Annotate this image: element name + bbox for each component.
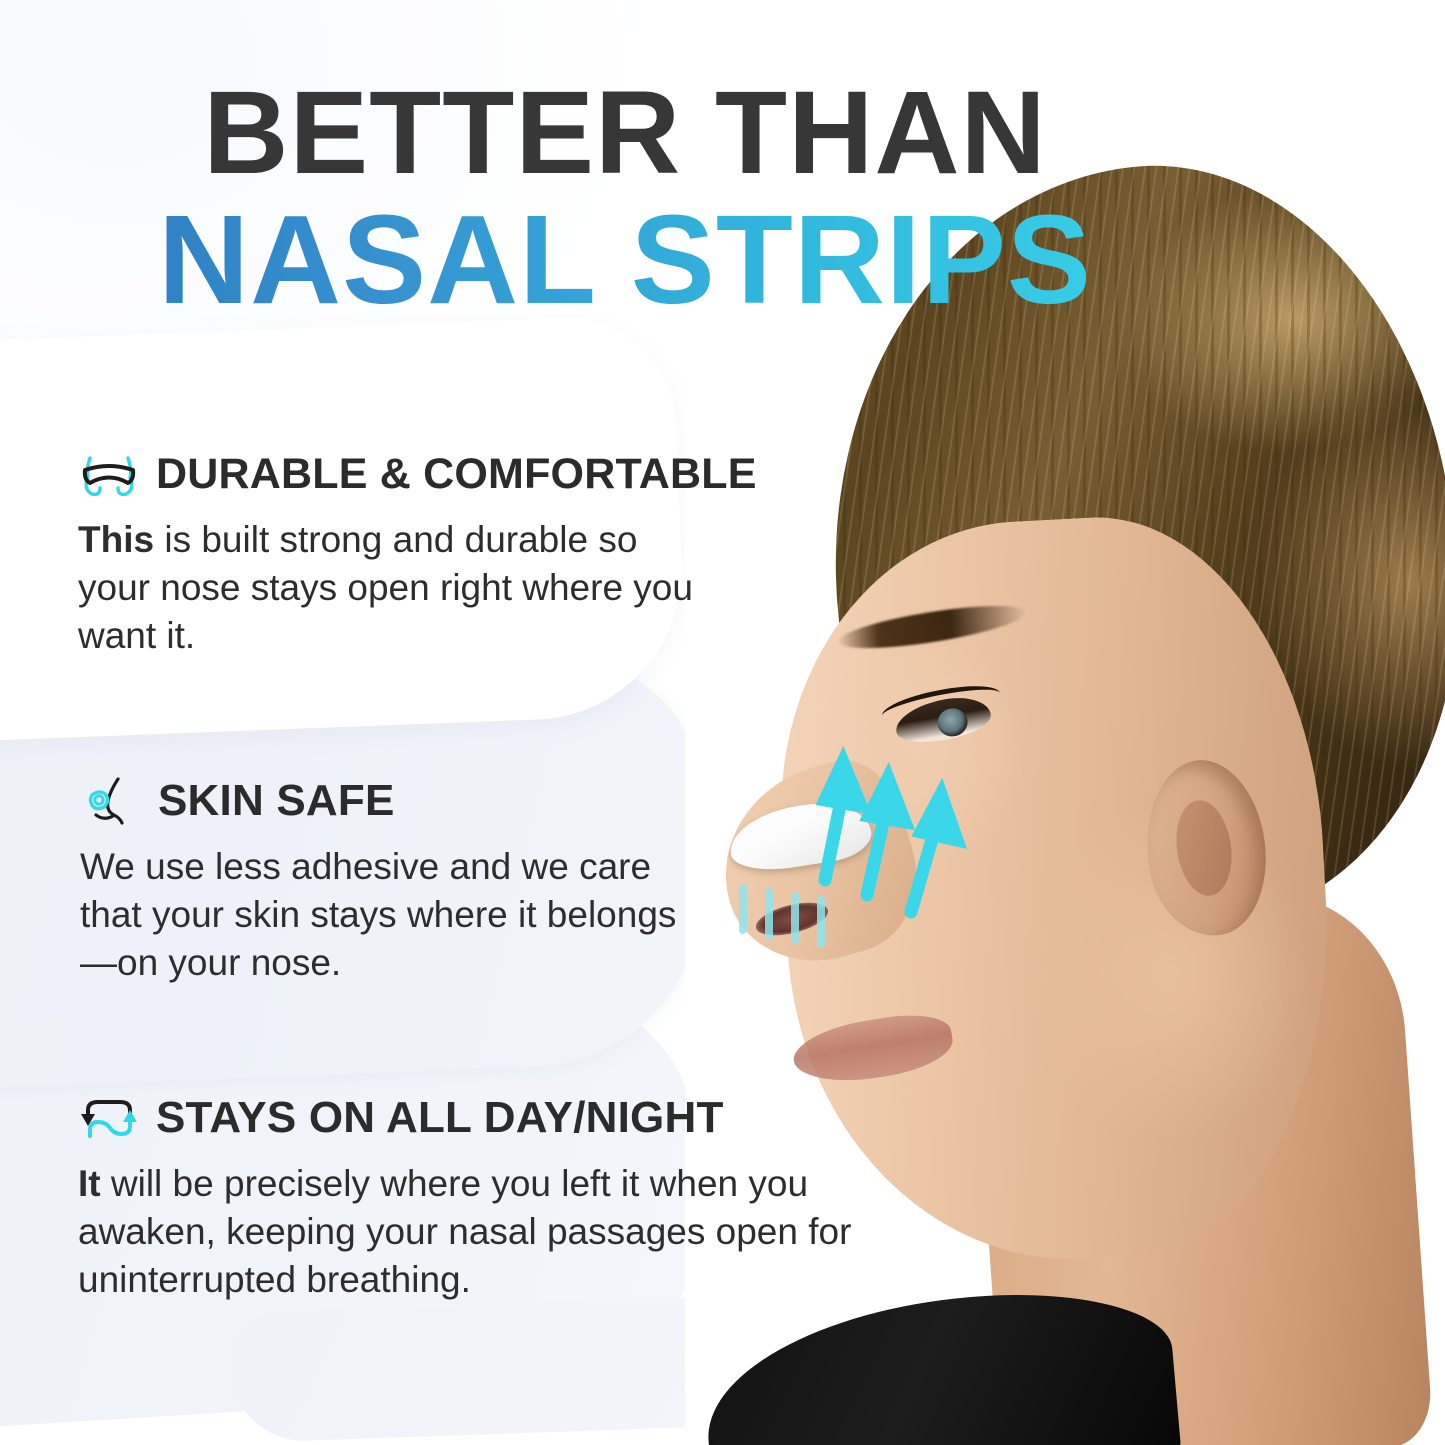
headline-line-1: BETTER THAN (0, 78, 1250, 189)
nose-profile-patch-icon (80, 775, 142, 827)
feature-header: SKIN SAFE (80, 775, 680, 827)
feature-skin-safe: SKIN SAFE We use less adhesive and we ca… (80, 775, 680, 987)
feature-header: DURABLE & COMFORTABLE (78, 448, 757, 500)
page-title: BETTER THAN NASAL STRIPS (0, 78, 1250, 319)
feature-body-bold: This (78, 519, 154, 560)
headline-line-2: NASAL STRIPS (0, 201, 1250, 319)
feature-stays-on: STAYS ON ALL DAY/NIGHT It will be precis… (78, 1092, 908, 1304)
feature-body-rest: is built strong and durable so your nose… (78, 519, 693, 656)
infographic-canvas: BETTER THAN NASAL STRIPS DURABLE & COMFO… (0, 0, 1445, 1445)
feature-title: DURABLE & COMFORTABLE (156, 450, 757, 499)
feature-body: This is built strong and durable so your… (78, 516, 718, 660)
feature-body: We use less adhesive and we care that yo… (80, 843, 680, 987)
nose-strip-airflow-icon (78, 448, 140, 500)
feature-body-rest: We use less adhesive and we care that yo… (80, 846, 676, 983)
feature-body-bold: It (78, 1163, 101, 1204)
refresh-cycle-icon (78, 1092, 140, 1144)
feature-title: STAYS ON ALL DAY/NIGHT (156, 1093, 724, 1143)
black-garment (698, 1280, 1182, 1445)
feature-body-rest: will be precisely where you left it when… (78, 1163, 851, 1300)
feature-title: SKIN SAFE (158, 776, 395, 826)
feature-durable-comfortable: DURABLE & COMFORTABLE This is built stro… (78, 448, 757, 660)
feature-header: STAYS ON ALL DAY/NIGHT (78, 1092, 908, 1144)
feature-body: It will be precisely where you left it w… (78, 1160, 908, 1304)
